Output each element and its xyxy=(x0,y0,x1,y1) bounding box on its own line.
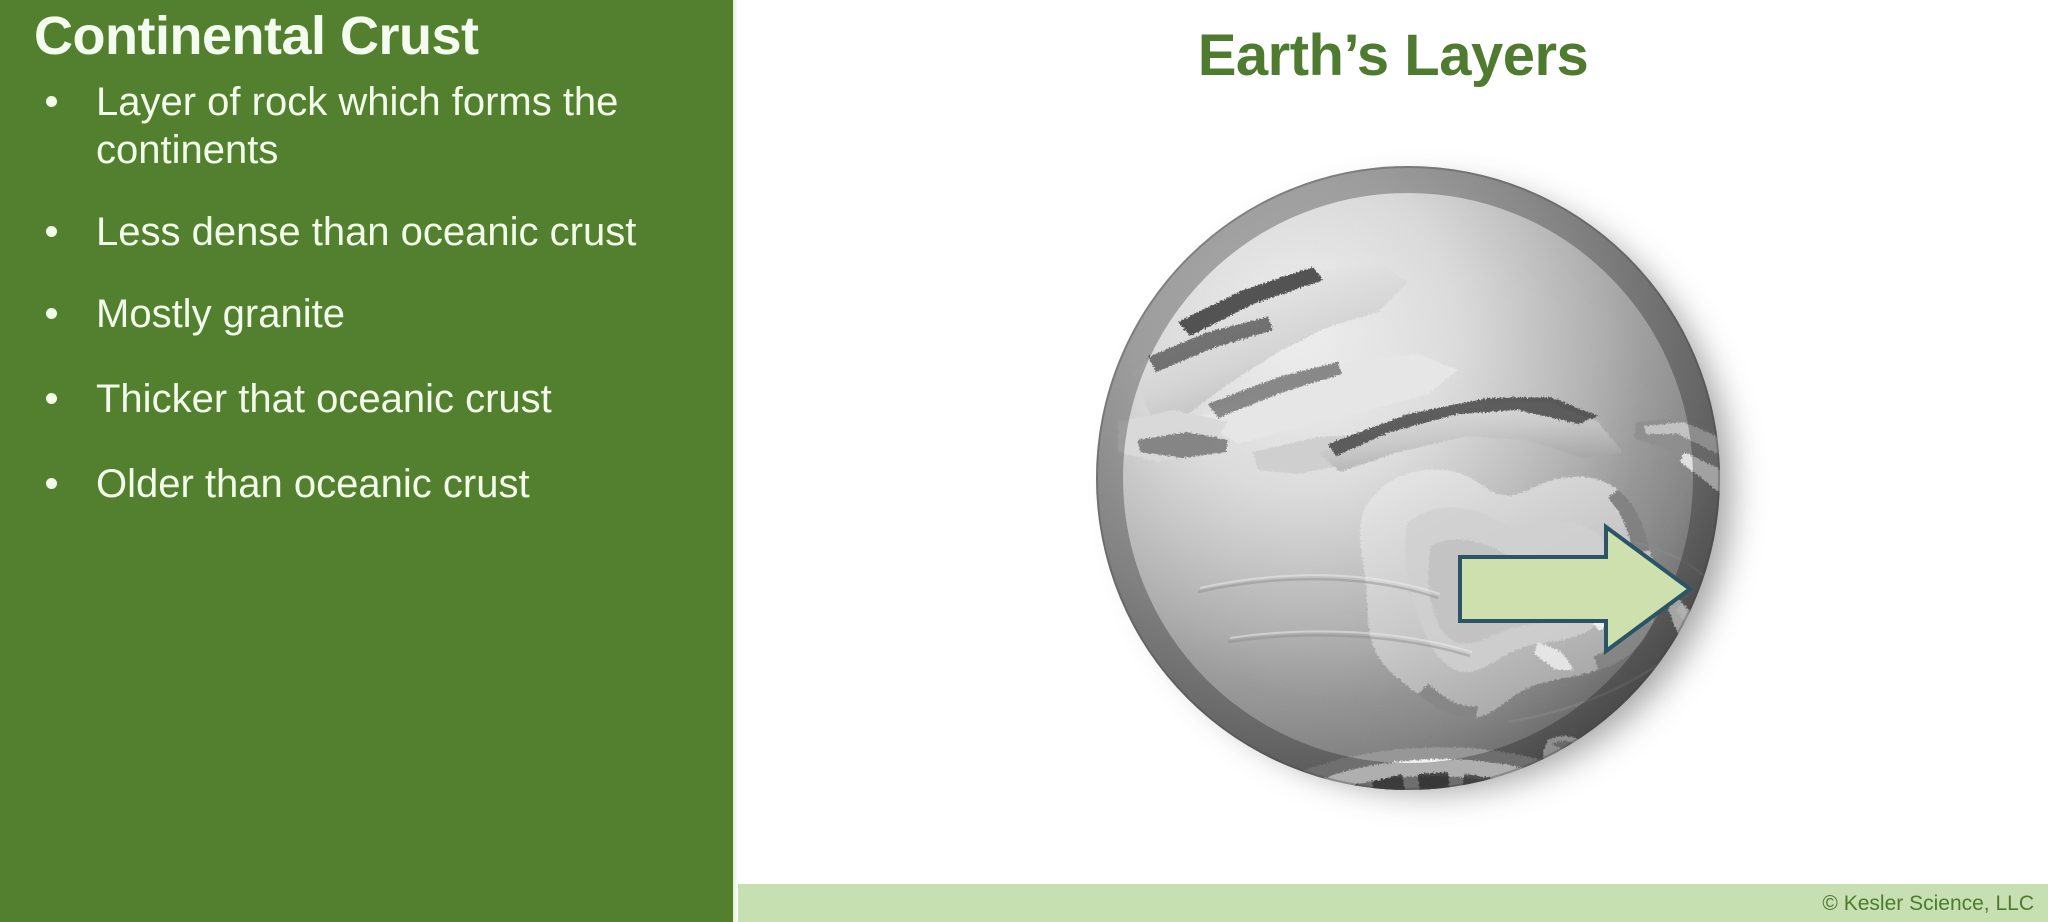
copyright-label: © Kesler Science, LLC xyxy=(1822,892,2034,916)
bullet-dot-icon xyxy=(46,308,57,319)
bullet-dot-icon xyxy=(46,96,57,107)
page-title: Earth’s Layers xyxy=(738,22,2048,89)
list-item: Older than oceanic crust xyxy=(30,460,720,508)
list-item: Mostly granite xyxy=(30,290,720,338)
sidebar-title: Continental Crust xyxy=(34,8,704,65)
list-item-label: Layer of rock which forms the continents xyxy=(96,80,618,172)
footer-bar: © Kesler Science, LLC xyxy=(738,884,2048,922)
list-item: Layer of rock which forms the continents xyxy=(30,78,720,174)
pointer-arrow-icon xyxy=(1456,522,1696,657)
list-item: Thicker that oceanic crust xyxy=(30,375,720,423)
slide-canvas: Continental Crust Layer of rock which fo… xyxy=(0,0,2048,922)
list-item: Less dense than oceanic crust xyxy=(30,208,720,256)
list-item-label: Thicker that oceanic crust xyxy=(96,377,552,421)
list-item-label: Mostly granite xyxy=(96,292,345,336)
list-item-label: Older than oceanic crust xyxy=(96,462,530,506)
bullet-dot-icon xyxy=(46,226,57,237)
bullet-dot-icon xyxy=(46,478,57,489)
bullet-dot-icon xyxy=(46,393,57,404)
globe-image xyxy=(1078,122,1738,852)
sidebar-panel: Continental Crust Layer of rock which fo… xyxy=(0,0,733,922)
main-panel: Earth’s Layers xyxy=(738,0,2048,922)
bullet-list: Layer of rock which forms the continents… xyxy=(30,78,720,538)
list-item-label: Less dense than oceanic crust xyxy=(96,210,636,254)
globe-illustration xyxy=(1078,122,1738,852)
